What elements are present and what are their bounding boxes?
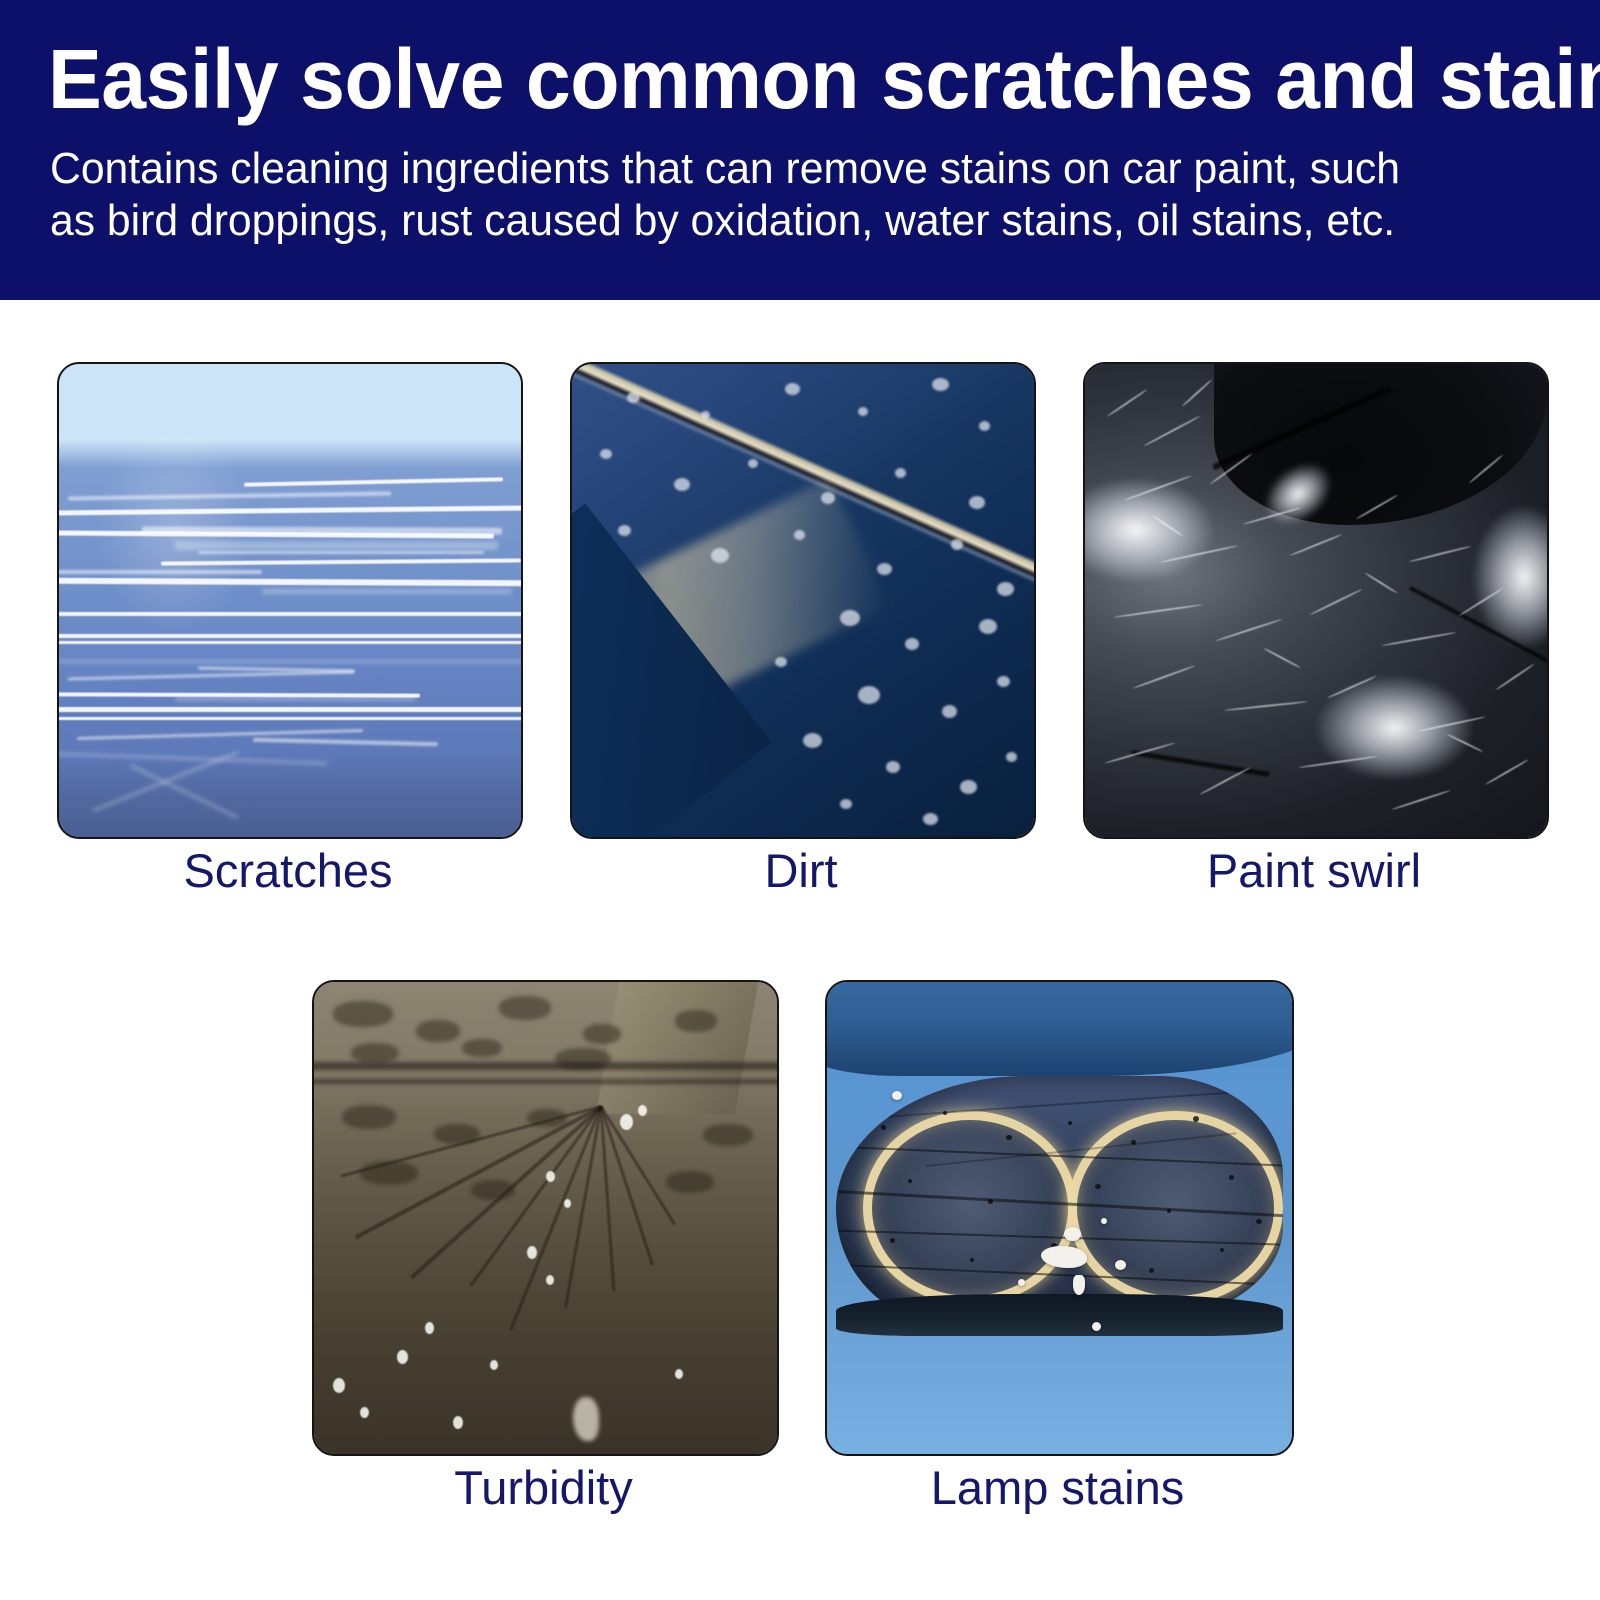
- bird-dropping-speck-b: [1018, 1279, 1025, 1286]
- caption-lamp-stains: Lamp stains: [825, 1460, 1290, 1516]
- card-lamp-stains: [825, 980, 1294, 1456]
- caption-paint-swirl: Paint swirl: [1083, 843, 1545, 899]
- card-turbidity: [312, 980, 779, 1456]
- car-hood: [827, 982, 1292, 1076]
- page-title: Easily solve common scratches and stains: [48, 34, 1507, 124]
- caption-scratches: Scratches: [57, 843, 519, 899]
- caption-turbidity: Turbidity: [312, 1460, 775, 1516]
- dirty-blue-paint-photo: [572, 364, 1034, 837]
- scratched-blue-paint-photo: [59, 364, 521, 837]
- headlight-bezel: [836, 1294, 1282, 1336]
- bird-dropping-speck-d: [1092, 1322, 1101, 1331]
- panel-pillar: [596, 982, 763, 1114]
- card-dirt: [570, 362, 1036, 839]
- card-scratches: [57, 362, 523, 839]
- card-paint-swirl: [1083, 362, 1549, 839]
- swirled-black-paint-photo: [1085, 364, 1547, 837]
- header-banner: Easily solve common scratches and stains…: [0, 0, 1600, 300]
- muddy-panel-photo: [314, 982, 777, 1454]
- bird-dropping-speck-e: [892, 1091, 902, 1100]
- headlight-housing: [836, 1076, 1282, 1321]
- stained-headlight-photo: [827, 982, 1292, 1454]
- caption-dirt: Dirt: [570, 843, 1032, 899]
- page-subtitle: Contains cleaning ingredients that can r…: [50, 143, 1437, 247]
- angel-eye-ring-left: [863, 1111, 1077, 1306]
